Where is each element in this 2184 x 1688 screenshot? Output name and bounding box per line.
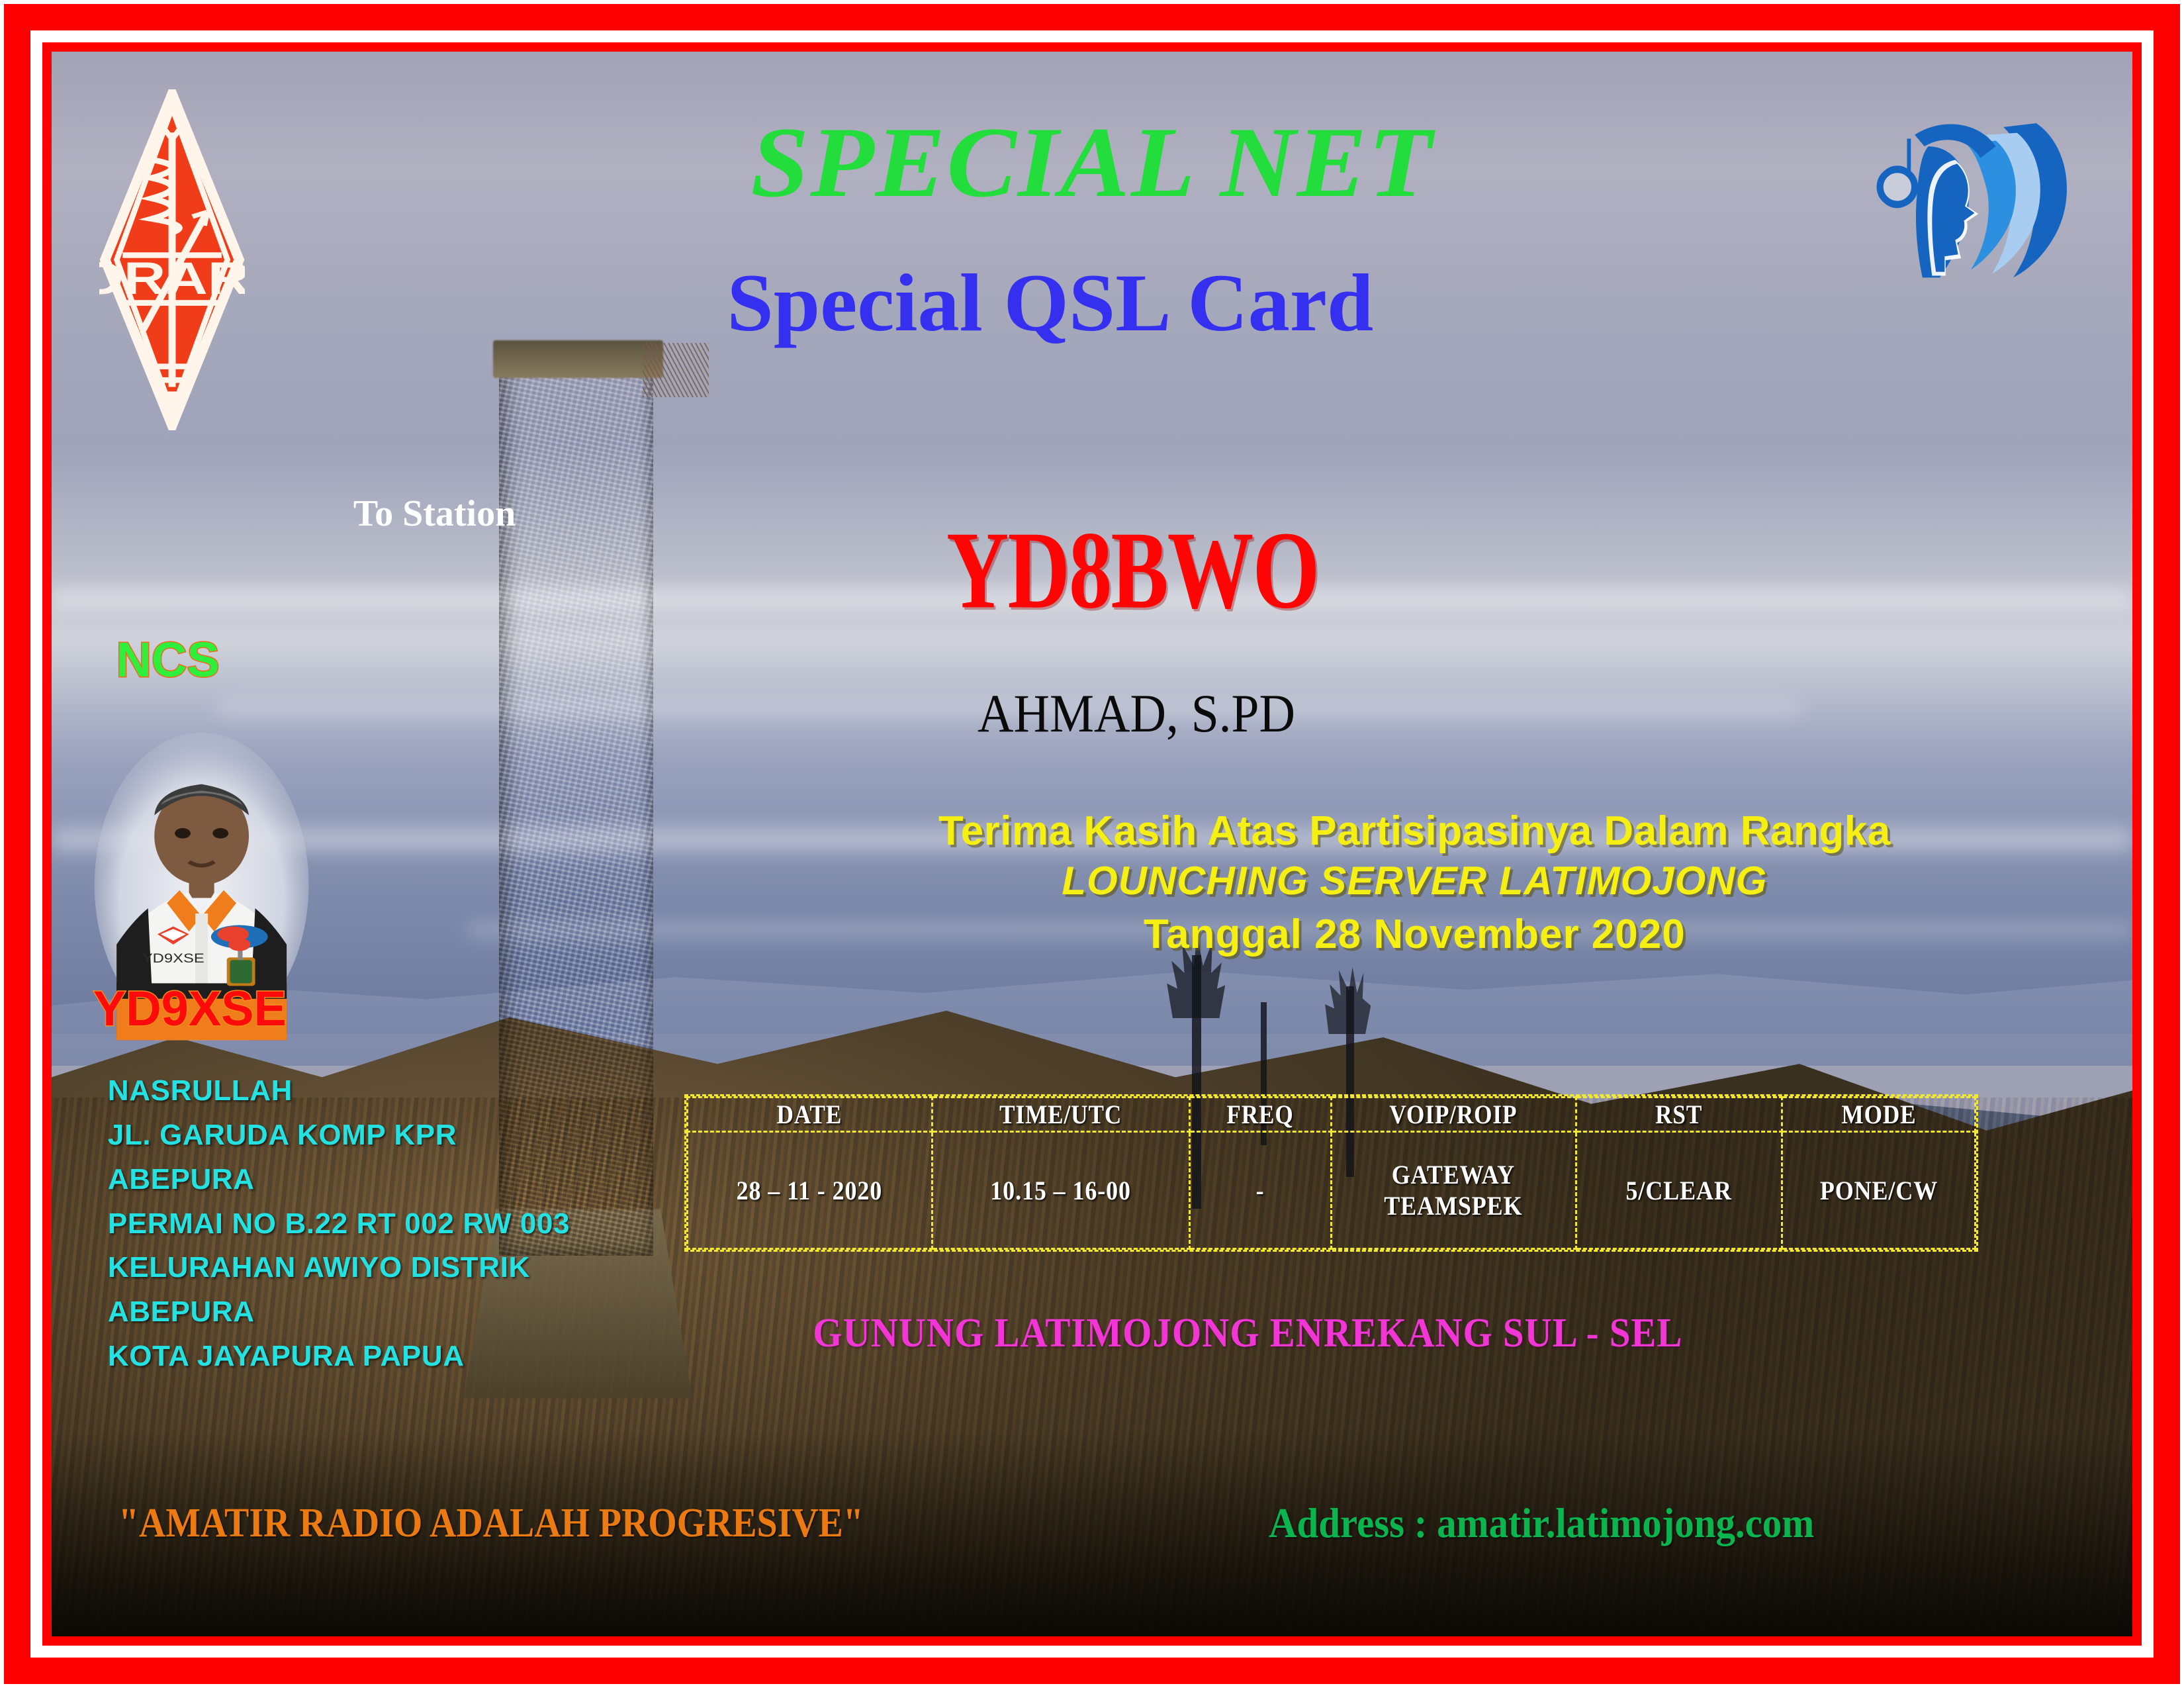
column-header-freq: FREQ xyxy=(1198,1098,1322,1132)
page-title: SPECIAL NET xyxy=(52,112,2132,212)
station-callsign: YD8BWO xyxy=(946,514,1318,626)
address-line: KELURAHAN AWIYO DISTRIK xyxy=(108,1246,570,1290)
operator-name: AHMAD, S.PD xyxy=(978,682,1295,745)
card-content: ORARI xyxy=(52,52,2132,1636)
column-header-mode: MODE xyxy=(1794,1098,1964,1132)
white-border-gap: ORARI xyxy=(30,30,2154,1658)
page-subtitle: Special QSL Card xyxy=(52,262,2132,344)
qso-log-table: DATE TIME/UTC FREQ VOIP/ROIP RST MODE 28… xyxy=(684,1094,1978,1252)
qsl-card: ORARI xyxy=(0,0,2184,1688)
address-line: KOTA JAYAPURA PAPUA xyxy=(108,1335,570,1379)
table-row: 28 – 11 - 2020 10.15 – 16-00 - GATEWAY T… xyxy=(687,1132,1975,1249)
cell-voip-line-1: GATEWAY xyxy=(1345,1159,1562,1190)
address-line: JL. GARUDA KOMP KPR xyxy=(108,1113,570,1158)
column-header-time: TIME/UTC xyxy=(947,1098,1174,1132)
thanks-line-3: Tanggal 28 November 2020 xyxy=(770,907,2060,962)
ncs-callsign: YD9XSE xyxy=(93,980,287,1037)
location-text: GUNUNG LATIMOJONG ENREKANG SUL - SEL xyxy=(712,1310,1784,1357)
address-line: ABEPURA xyxy=(108,1290,570,1335)
thanks-message: Terima Kasih Atas Partisipasinya Dalam R… xyxy=(770,806,2060,962)
inner-red-border: ORARI xyxy=(42,42,2142,1646)
cell-date: 28 – 11 - 2020 xyxy=(700,1132,920,1249)
column-header-rst: RST xyxy=(1588,1098,1770,1132)
table-header-row: DATE TIME/UTC FREQ VOIP/ROIP RST MODE xyxy=(687,1098,1975,1132)
ncs-label: NCS xyxy=(116,632,219,688)
website-address: Address : amatir.latimojong.com xyxy=(1269,1499,1814,1548)
column-header-date: DATE xyxy=(702,1098,917,1132)
cell-mode: PONE/CW xyxy=(1792,1132,1966,1249)
thanks-line-1: Terima Kasih Atas Partisipasinya Dalam R… xyxy=(770,806,2060,857)
address-line: PERMAI NO B.22 RT 002 RW 003 xyxy=(108,1202,570,1246)
cell-voip: GATEWAY TEAMSPEK xyxy=(1343,1132,1564,1249)
column-header-voip: VOIP/ROIP xyxy=(1346,1098,1561,1132)
thanks-line-2: LOUNCHING SERVER LATIMOJONG xyxy=(770,856,2060,907)
motto-text: "AMATIR RADIO ADALAH PROGRESIVE" xyxy=(118,1500,864,1547)
address-block: NASRULLAH JL. GARUDA KOMP KPR ABEPURA PE… xyxy=(108,1069,570,1379)
cell-freq: - xyxy=(1197,1132,1324,1249)
cell-time: 10.15 – 16-00 xyxy=(945,1132,1177,1249)
cell-voip-line-2: TEAMSPEK xyxy=(1345,1190,1562,1221)
address-line: ABEPURA xyxy=(108,1158,570,1202)
address-line: NASRULLAH xyxy=(108,1069,570,1113)
outer-red-border: ORARI xyxy=(4,4,2180,1684)
to-station-label: To Station xyxy=(353,492,516,535)
cell-rst: 5/CLEAR xyxy=(1586,1132,1772,1249)
background-photo: ORARI xyxy=(52,52,2132,1636)
uniform-callsign-patch: YD9XSE xyxy=(142,951,205,966)
